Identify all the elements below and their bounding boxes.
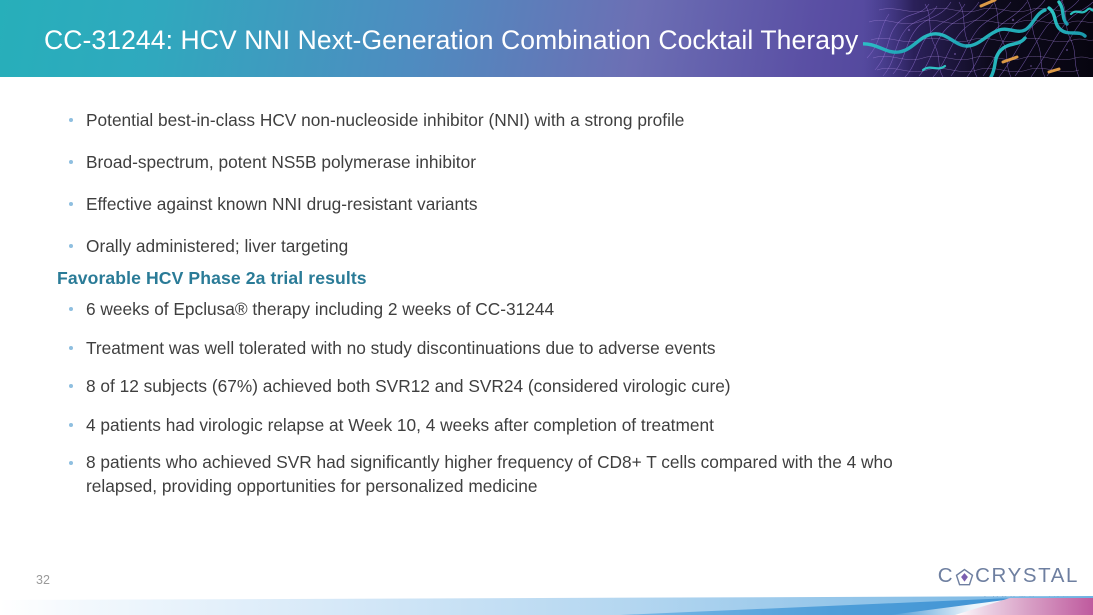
bullet-item: Treatment was well tolerated with no stu… [60,336,960,361]
bullet-item: 6 weeks of Epclusa® therapy including 2 … [60,297,960,322]
bullet-item: Orally administered; liver targeting [60,234,1020,259]
logo-text-before: C [938,566,954,587]
logo-wordmark: C CRYSTAL [938,566,1079,587]
slide-title: CC-31244: HCV NNI Next-Generation Combin… [44,26,858,55]
pentagon-crystal-svg [955,568,974,587]
bullet-item: 8 patients who achieved SVR had signific… [60,451,960,498]
slide: CC-31244: HCV NNI Next-Generation Combin… [0,0,1093,615]
slide-content: Potential best-in-class HCV non-nucleosi… [0,77,1093,547]
bullet-item: 4 patients had virologic relapse at Week… [60,413,960,438]
bottom-ribbon-svg [0,589,1093,615]
logo-text-after: CRYSTAL [975,566,1079,587]
bullet-item: Effective against known NNI drug-resista… [60,192,1020,217]
section-heading-trial-results: Favorable HCV Phase 2a trial results [57,268,367,289]
page-number: 32 [36,573,50,587]
bullet-item: Potential best-in-class HCV non-nucleosi… [60,108,1020,133]
protein-ribbon-molecular-art [863,0,1093,77]
bullet-item: Broad-spectrum, potent NS5B polymerase i… [60,150,1020,175]
bullet-item: 8 of 12 subjects (67%) achieved both SVR… [60,374,960,399]
slide-header-banner: CC-31244: HCV NNI Next-Generation Combin… [0,0,1093,77]
results-bullet-list: 6 weeks of Epclusa® therapy including 2 … [60,297,960,513]
overview-bullet-list: Potential best-in-class HCV non-nucleosi… [60,108,1020,276]
molecular-art-svg [863,0,1093,77]
cocrystal-pentagon-icon [955,568,974,587]
bottom-ribbon-swoosh [0,589,1093,615]
